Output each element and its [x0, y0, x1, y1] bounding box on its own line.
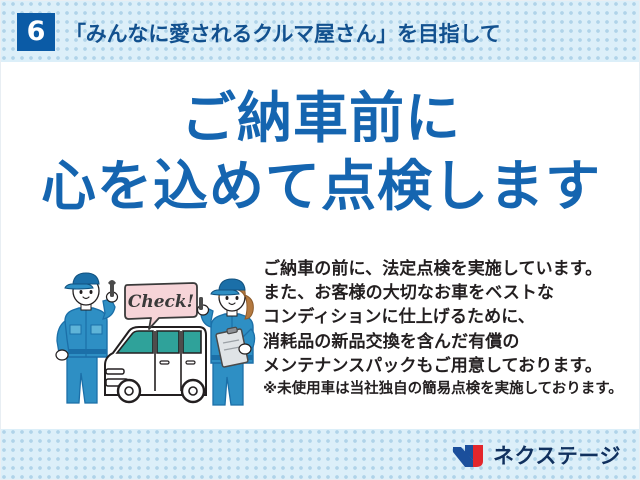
body-line: コンディションに仕上げるために、 — [263, 305, 629, 329]
headline-line-1: ご納車前に — [1, 85, 640, 151]
nextage-n-logo-icon — [452, 443, 486, 469]
check-bubble-text: Check! — [128, 292, 194, 312]
body-line: ご納車の前に、法定点検を実施しています。 — [263, 257, 629, 281]
headline: ご納車前に 心を込めて点検します — [1, 85, 640, 221]
poster-canvas: 6 「みんなに愛されるクルマ屋さん」を目指して ご納車前に 心を込めて点検します… — [0, 0, 640, 480]
body-line: メンテナンスパックもご用意しております。 — [263, 354, 629, 378]
mechanics-illustration: Check! — [53, 269, 263, 409]
body-line: 消耗品の新品交換を含んだ有償の — [263, 330, 629, 354]
header-title: 「みんなに愛されるクルマ屋さん」を目指して — [65, 18, 501, 48]
body-line: また、お客様の大切なお車をベストな — [263, 281, 629, 305]
body-copy: ご納車の前に、法定点検を実施しています。 また、お客様の大切なお車をベストな コ… — [263, 257, 629, 401]
body-note: ※未使用車は当社独自の簡易点検を実施しております。 — [263, 378, 629, 401]
brand-name: ネクステージ — [493, 441, 621, 471]
header-badge-number: 6 — [17, 13, 55, 51]
headline-line-2: 心を込めて点検します — [1, 151, 640, 221]
check-speech-bubble: Check! — [125, 283, 197, 329]
brand-logo: ネクステージ — [452, 441, 621, 471]
van-illustration — [105, 327, 206, 402]
